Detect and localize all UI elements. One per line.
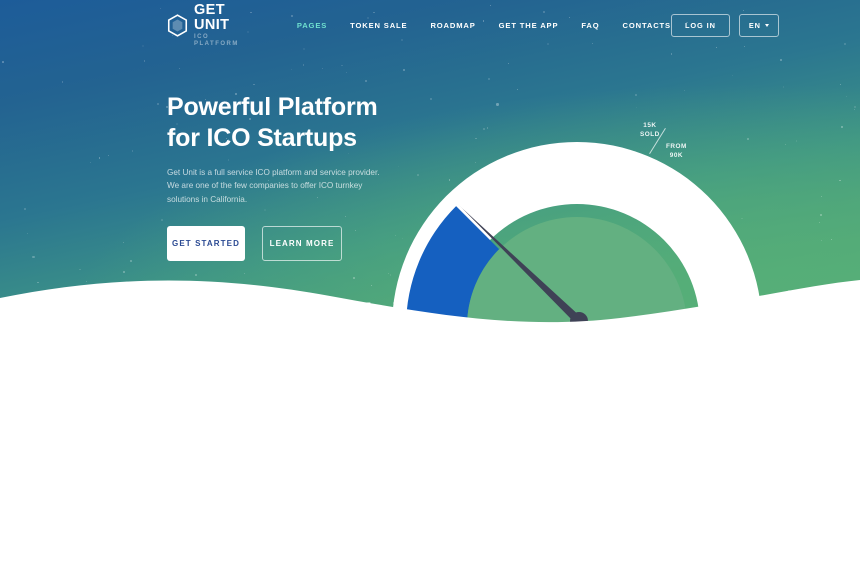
gauge-from-label: FROM 90K [666, 143, 687, 160]
countdown-label: HOURS [223, 327, 270, 333]
countdown-value: 14 [223, 298, 270, 326]
page-title: Powerful Platform for ICO Startups [167, 92, 457, 153]
brand-tagline: ICO PLATFORM [194, 34, 239, 47]
nav-link-get-the-app[interactable]: GET THE APP [499, 21, 559, 30]
main-navigation: GET UNIT ICO PLATFORM PAGESTOKEN SALEROA… [0, 0, 860, 50]
learn-more-button[interactable]: LEARN MORE [262, 226, 342, 261]
nav-link-contacts[interactable]: CONTACTS [623, 21, 671, 30]
countdown-unit-days: 20DAYS [167, 298, 214, 333]
language-selector[interactable]: EN [739, 14, 779, 37]
gauge-sold-text: SOLD [640, 131, 660, 140]
countdown-timer: 20DAYS:14HOURS:36MINUTES:55SECONDS [167, 298, 457, 333]
hero-section: 15K SOLD FROM 90K GET UNIT ICO PLATFORM … [0, 0, 860, 340]
countdown-value: 36 [279, 298, 326, 326]
countdown-label: MINUTES [279, 327, 326, 333]
gauge-from-text: FROM [666, 143, 687, 152]
gauge-sold-label: 15K SOLD [640, 122, 660, 139]
nav-actions: LOG IN EN [671, 14, 779, 37]
language-label: EN [749, 21, 761, 30]
gauge-sold-value: 15K [640, 122, 660, 131]
get-started-button[interactable]: GET STARTED [167, 226, 245, 261]
countdown-value: 55 [335, 298, 382, 326]
landing-page: 15K SOLD FROM 90K GET UNIT ICO PLATFORM … [0, 0, 860, 570]
brand-name: GET UNIT [194, 3, 239, 33]
nav-link-pages[interactable]: PAGES [297, 21, 327, 30]
nav-link-token-sale[interactable]: TOKEN SALE [350, 21, 407, 30]
hero-cta-group: GET STARTED LEARN MORE [167, 226, 457, 261]
gauge-from-value: 90K [666, 152, 687, 161]
countdown-separator: : [326, 298, 335, 326]
countdown-separator: : [270, 298, 279, 326]
nav-link-list: PAGESTOKEN SALEROADMAPGET THE APPFAQCONT… [297, 21, 671, 30]
chevron-down-icon [765, 24, 769, 27]
hero-content: Powerful Platform for ICO Startups Get U… [167, 92, 457, 333]
hexagon-icon [167, 14, 188, 37]
brand-logo[interactable]: GET UNIT ICO PLATFORM [167, 3, 239, 48]
hero-description: Get Unit is a full service ICO platform … [167, 166, 382, 206]
countdown-separator: : [214, 298, 223, 326]
countdown-unit-hours: 14HOURS [223, 298, 270, 333]
countdown-unit-seconds: 55SECONDS [335, 298, 382, 333]
countdown-value: 20 [167, 298, 214, 326]
login-button[interactable]: LOG IN [671, 14, 730, 37]
countdown-label: SECONDS [335, 327, 382, 333]
countdown-label: DAYS [167, 327, 214, 333]
presale-status-label: Pre-sale is Live Now [167, 283, 457, 292]
nav-link-roadmap[interactable]: ROADMAP [430, 21, 475, 30]
countdown-unit-minutes: 36MINUTES [279, 298, 326, 333]
about-section: Blockchain Solutions Pre-sale is Live No… [0, 340, 860, 570]
nav-link-faq[interactable]: FAQ [581, 21, 599, 30]
